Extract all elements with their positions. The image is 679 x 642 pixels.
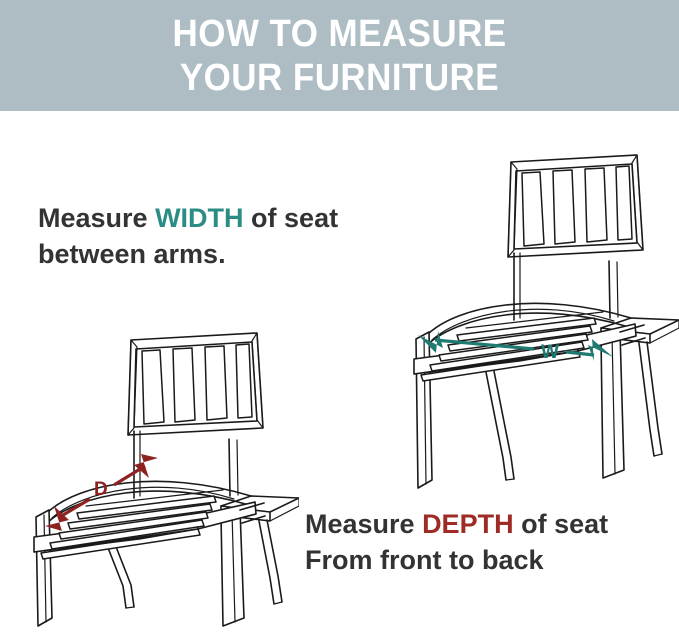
caption-depth-line-1: Measure DEPTH of seat bbox=[305, 506, 608, 542]
chair-back-support-right-edge bbox=[237, 440, 238, 495]
chair-back-slat-opening bbox=[522, 172, 544, 246]
header-title-line-1: HOW TO MEASURE bbox=[172, 12, 506, 56]
chair-illustration-width: W bbox=[398, 140, 679, 502]
chair-back-slat-opening bbox=[236, 344, 252, 418]
caption-depth-before: Measure bbox=[305, 509, 422, 539]
infographic-canvas: HOW TO MEASURE YOUR FURNITURE Measure WI… bbox=[0, 0, 679, 642]
chair-rear-right-leg-edge bbox=[267, 520, 282, 602]
caption-width-keyword: WIDTH bbox=[155, 203, 243, 233]
chair-back-support-right bbox=[609, 261, 610, 318]
caption-width-line-1: Measure WIDTH of seat bbox=[38, 200, 338, 236]
chair-illustration-depth: D bbox=[18, 318, 299, 640]
chair-back-slat-opening bbox=[553, 170, 575, 244]
caption-depth: Measure DEPTH of seat From front to back bbox=[305, 506, 608, 578]
chair-rear-right-leg-edge bbox=[647, 342, 662, 454]
header-banner: HOW TO MEASURE YOUR FURNITURE bbox=[0, 0, 679, 111]
chair-rear-left-leg-foot bbox=[126, 607, 134, 608]
chair-back-slat-opening bbox=[205, 346, 227, 420]
dimension-label-w: W bbox=[541, 342, 559, 363]
chair-rear-left-leg-foot bbox=[506, 479, 514, 480]
caption-width-line-2: between arms. bbox=[38, 236, 338, 272]
dimension-arrow-depth-head-upper bbox=[134, 454, 158, 478]
header-title-line-2: YOUR FURNITURE bbox=[180, 56, 499, 100]
chair-rear-right-leg bbox=[639, 343, 654, 456]
chair-rear-right-leg bbox=[259, 521, 274, 604]
chair-back-support-right-edge bbox=[617, 262, 618, 317]
chair-back-slat-opening bbox=[173, 348, 195, 422]
dimension-label-d: D bbox=[94, 479, 108, 500]
caption-depth-after: of seat bbox=[514, 509, 609, 539]
caption-depth-line-2: From front to back bbox=[305, 542, 608, 578]
caption-depth-keyword: DEPTH bbox=[422, 509, 514, 539]
chair-rear-right-leg-foot bbox=[274, 602, 282, 604]
chair-back-slat-opening bbox=[142, 350, 164, 424]
chair-back-slat-opening bbox=[585, 168, 607, 242]
chair-rear-right-leg-foot bbox=[654, 454, 662, 456]
caption-width-after: of seat bbox=[244, 203, 339, 233]
caption-width: Measure WIDTH of seat between arms. bbox=[38, 200, 338, 272]
chair-back-slat-opening bbox=[616, 166, 632, 240]
chair-back-support-right bbox=[229, 439, 230, 496]
caption-width-before: Measure bbox=[38, 203, 155, 233]
